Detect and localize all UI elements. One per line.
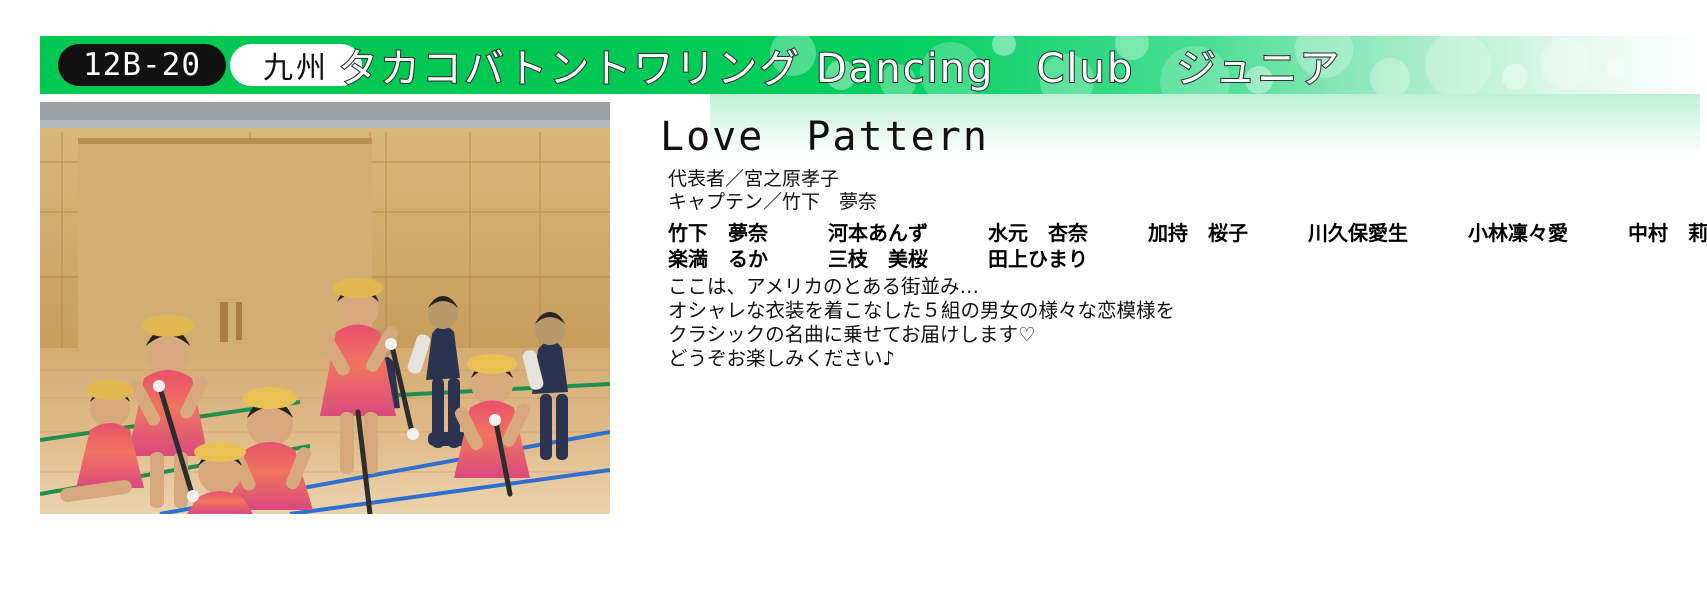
description-line-4: どうぞお楽しみください♪ [668, 347, 1698, 371]
bokeh-circle [1425, 36, 1491, 94]
member-row-1: 竹下 夢奈 河本あんず 水元 杏奈 加持 桜子 川久保愛生 小林凜々愛 中村 莉… [668, 220, 1703, 246]
bokeh-circle [1502, 64, 1528, 90]
member-row-2: 楽満 るか 三枝 美桜 田上ひまり [668, 246, 1703, 272]
header-banner: 12B-20 九州 タカコバトントワリング Dancing Club ジュニア [40, 36, 1700, 94]
representative-line: 代表者／宮之原孝子 [668, 168, 1698, 191]
description-line-1: ここは、アメリカのとある街並み… [668, 275, 1698, 299]
group-name: タカコバトントワリング Dancing Club ジュニア [338, 40, 1341, 90]
performance-photo [40, 102, 610, 514]
page-title: Love Pattern [660, 104, 989, 162]
credits-block: 代表者／宮之原孝子 キャプテン／竹下 夢奈 [668, 168, 1698, 214]
member-names: 竹下 夢奈 河本あんず 水元 杏奈 加持 桜子 川久保愛生 小林凜々愛 中村 莉… [668, 220, 1703, 272]
description-line-2: オシャレな衣装を着こなした５組の男女の様々な恋模様を [668, 299, 1698, 323]
description-line-3: クラシックの名曲に乗せてお届けします♡ [668, 323, 1698, 347]
bokeh-circle [1605, 58, 1625, 78]
bokeh-circle [1370, 58, 1410, 94]
captain-line: キャプテン／竹下 夢奈 [668, 191, 1698, 214]
bokeh-circle [1540, 38, 1590, 88]
program-card: 12B-20 九州 タカコバトントワリング Dancing Club ジュニア … [0, 0, 1707, 607]
entry-code-badge: 12B-20 [58, 44, 226, 86]
description-block: ここは、アメリカのとある街並み… オシャレな衣装を着こなした５組の男女の様々な恋… [668, 275, 1698, 371]
photo-illustration [40, 102, 610, 514]
